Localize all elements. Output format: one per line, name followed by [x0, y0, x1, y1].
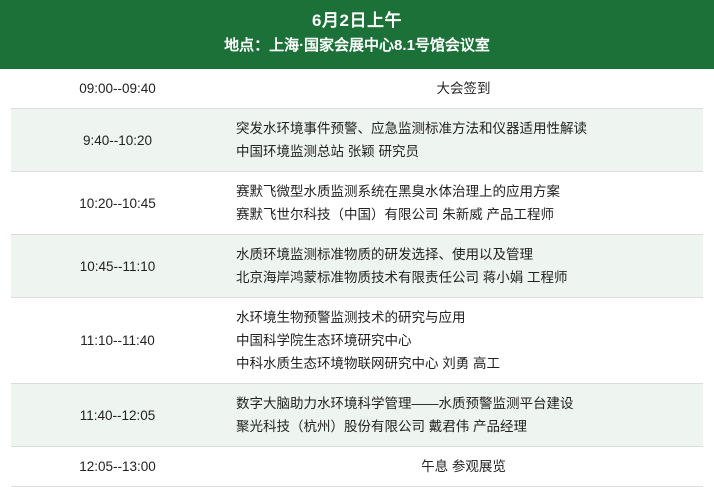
session-content: 大会签到 [224, 69, 703, 109]
session-content: 数字大脑助力水环境科学管理——水质预警监测平台建设聚光科技（杭州）股份有限公司 … [224, 384, 703, 447]
session-line: 水质环境监测标准物质的研发选择、使用以及管理 [236, 243, 697, 266]
session-time: 10:20--10:45 [11, 172, 224, 235]
session-line: 赛默飞世尔科技（中国）有限公司 朱新威 产品工程师 [236, 203, 697, 226]
table-row: 09:00--09:40大会签到 [11, 69, 703, 109]
session-time: 12:05--13:00 [11, 447, 224, 487]
table-row: 10:45--11:10水质环境监测标准物质的研发选择、使用以及管理北京海岸鸿蒙… [11, 235, 703, 298]
agenda-table-body: 09:00--09:40大会签到9:40--10:20突发水环境事件预警、应急监… [11, 69, 703, 487]
agenda-header-title: 6月2日上午 [0, 9, 714, 33]
session-line: 数字大脑助力水环境科学管理——水质预警监测平台建设 [236, 392, 697, 415]
session-line: 大会签到 [230, 77, 697, 100]
session-time: 09:00--09:40 [11, 69, 224, 109]
session-line: 突发水环境事件预警、应急监测标准方法和仪器适用性解读 [236, 117, 697, 140]
agenda-page: 6月2日上午 地点：上海·国家会展中心8.1号馆会议室 09:00--09:40… [0, 0, 714, 487]
session-line: 中国环境监测总站 张颖 研究员 [236, 140, 697, 163]
session-line: 北京海岸鸿蒙标准物质技术有限责任公司 蒋小娟 工程师 [236, 266, 697, 289]
session-line: 水环境生物预警监测技术的研究与应用 [236, 306, 697, 329]
agenda-table: 09:00--09:40大会签到9:40--10:20突发水环境事件预警、应急监… [11, 69, 703, 487]
session-content: 水质环境监测标准物质的研发选择、使用以及管理北京海岸鸿蒙标准物质技术有限责任公司… [224, 235, 703, 298]
session-content: 午息 参观展览 [224, 447, 703, 487]
agenda-header-banner: 6月2日上午 地点：上海·国家会展中心8.1号馆会议室 [0, 0, 714, 69]
session-line: 聚光科技（杭州）股份有限公司 戴君伟 产品经理 [236, 415, 697, 438]
session-line: 中国科学院生态环境研究中心 [236, 329, 697, 352]
session-line: 中科水质生态环境物联网研究中心 刘勇 高工 [236, 352, 697, 375]
session-line: 赛默飞微型水质监测系统在黑臭水体治理上的应用方案 [236, 180, 697, 203]
table-row: 10:20--10:45赛默飞微型水质监测系统在黑臭水体治理上的应用方案赛默飞世… [11, 172, 703, 235]
session-content: 水环境生物预警监测技术的研究与应用中国科学院生态环境研究中心中科水质生态环境物联… [224, 298, 703, 384]
session-time: 11:40--12:05 [11, 384, 224, 447]
session-time: 9:40--10:20 [11, 109, 224, 172]
session-line: 午息 参观展览 [230, 455, 697, 478]
session-content: 突发水环境事件预警、应急监测标准方法和仪器适用性解读中国环境监测总站 张颖 研究… [224, 109, 703, 172]
table-row: 12:05--13:00午息 参观展览 [11, 447, 703, 487]
agenda-header-location: 地点：上海·国家会展中心8.1号馆会议室 [0, 35, 714, 57]
table-row: 11:10--11:40水环境生物预警监测技术的研究与应用中国科学院生态环境研究… [11, 298, 703, 384]
session-time: 11:10--11:40 [11, 298, 224, 384]
table-row: 9:40--10:20突发水环境事件预警、应急监测标准方法和仪器适用性解读中国环… [11, 109, 703, 172]
session-time: 10:45--11:10 [11, 235, 224, 298]
session-content: 赛默飞微型水质监测系统在黑臭水体治理上的应用方案赛默飞世尔科技（中国）有限公司 … [224, 172, 703, 235]
table-row: 11:40--12:05数字大脑助力水环境科学管理——水质预警监测平台建设聚光科… [11, 384, 703, 447]
